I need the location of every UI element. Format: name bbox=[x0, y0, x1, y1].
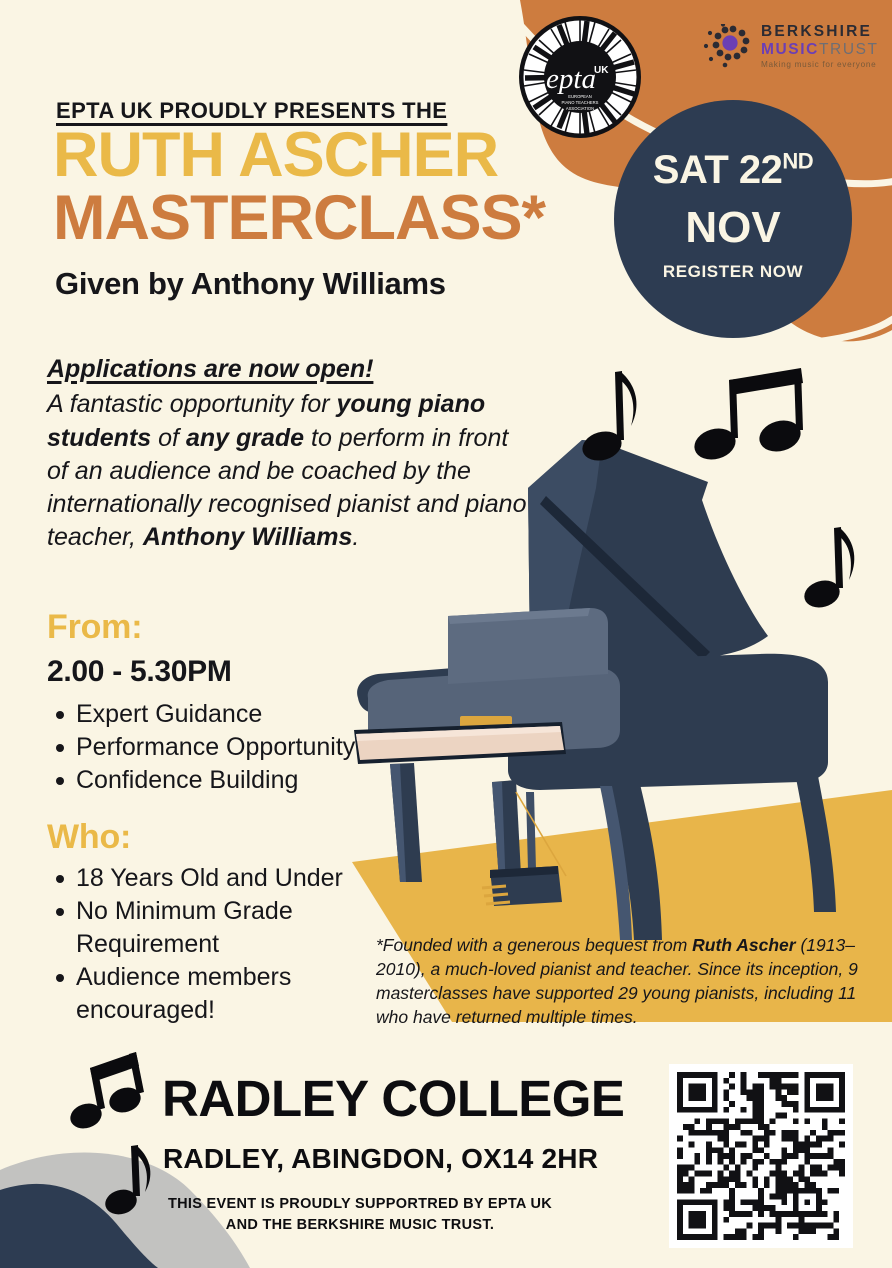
emphasis: Anthony Williams bbox=[143, 523, 353, 551]
eighth-note-icon-bottom bbox=[103, 1140, 159, 1220]
register-now-cta[interactable]: REGISTER NOW bbox=[663, 262, 803, 282]
date-badge[interactable]: SAT 22ND NOV REGISTER NOW bbox=[614, 100, 852, 338]
grand-piano-illustration bbox=[330, 430, 892, 950]
beamed-eighth-notes-icon-bottom bbox=[68, 1048, 144, 1134]
venue-name: RADLEY COLLEGE bbox=[162, 1069, 624, 1128]
epta-uk-superscript: UK bbox=[594, 65, 609, 76]
list-item: No Minimum Grade Requirement bbox=[47, 895, 377, 961]
date-ordinal: ND bbox=[782, 149, 813, 174]
support-note: THIS EVENT IS PROUDLY SUPPORTRED BY EPTA… bbox=[160, 1194, 560, 1235]
event-time: 2.00 - 5.30PM bbox=[47, 655, 232, 689]
qr-code-graphic[interactable] bbox=[677, 1072, 845, 1240]
epta-uk-logo: epta UK EUROPEAN PIANO TEACHERS ASSOCIAT… bbox=[519, 16, 641, 138]
page-subtitle: Given by Anthony Williams bbox=[55, 266, 446, 302]
berkshire-music-trust-logo: BERKSHIRE MUSICTRUST Making music for ev… bbox=[703, 24, 881, 72]
eighth-note-icon-piano-right bbox=[800, 520, 870, 615]
page-title-line1: RUTH ASCHER bbox=[53, 124, 498, 187]
from-heading: From: bbox=[47, 608, 142, 647]
list-item: Audience members encouraged! bbox=[47, 961, 377, 1027]
date-month: NOV bbox=[685, 206, 780, 250]
bmt-music-word: MUSIC bbox=[761, 41, 819, 58]
bmt-line1: BERKSHIRE bbox=[761, 24, 879, 40]
beamed-eighth-notes-icon bbox=[691, 368, 805, 464]
qr-code[interactable] bbox=[669, 1064, 853, 1248]
venue-address: RADLEY, ABINGDON, OX14 2HR bbox=[163, 1143, 598, 1175]
who-heading: Who: bbox=[47, 818, 131, 857]
piano-leg-back-right bbox=[796, 776, 836, 912]
pedal-post-2 bbox=[526, 792, 536, 870]
list-item: 18 Years Old and Under bbox=[47, 862, 377, 895]
svg-text:ASSOCIATION: ASSOCIATION bbox=[566, 106, 594, 111]
who-bullet-list: 18 Years Old and UnderNo Minimum Grade R… bbox=[47, 862, 377, 1027]
bmt-dot-cluster-icon bbox=[703, 24, 755, 70]
bmt-tagline: Making music for everyone bbox=[761, 61, 879, 69]
date-day: SAT 22ND bbox=[653, 150, 813, 190]
poster-canvas: epta UK EUROPEAN PIANO TEACHERS ASSOCIAT… bbox=[0, 0, 892, 1268]
bmt-trust-word: TRUST bbox=[819, 41, 879, 58]
eighth-note-icon bbox=[579, 371, 637, 465]
applications-open-line: Applications are now open! bbox=[47, 353, 527, 386]
epta-wordmark: epta bbox=[546, 63, 596, 95]
music-notes-top-group bbox=[575, 358, 825, 473]
emphasis: any grade bbox=[186, 424, 304, 452]
page-title-line2: MASTERCLASS* bbox=[53, 187, 545, 250]
piano-string bbox=[516, 792, 566, 876]
svg-text:PIANO TEACHERS: PIANO TEACHERS bbox=[562, 100, 599, 105]
svg-text:EUROPEAN: EUROPEAN bbox=[568, 94, 592, 99]
